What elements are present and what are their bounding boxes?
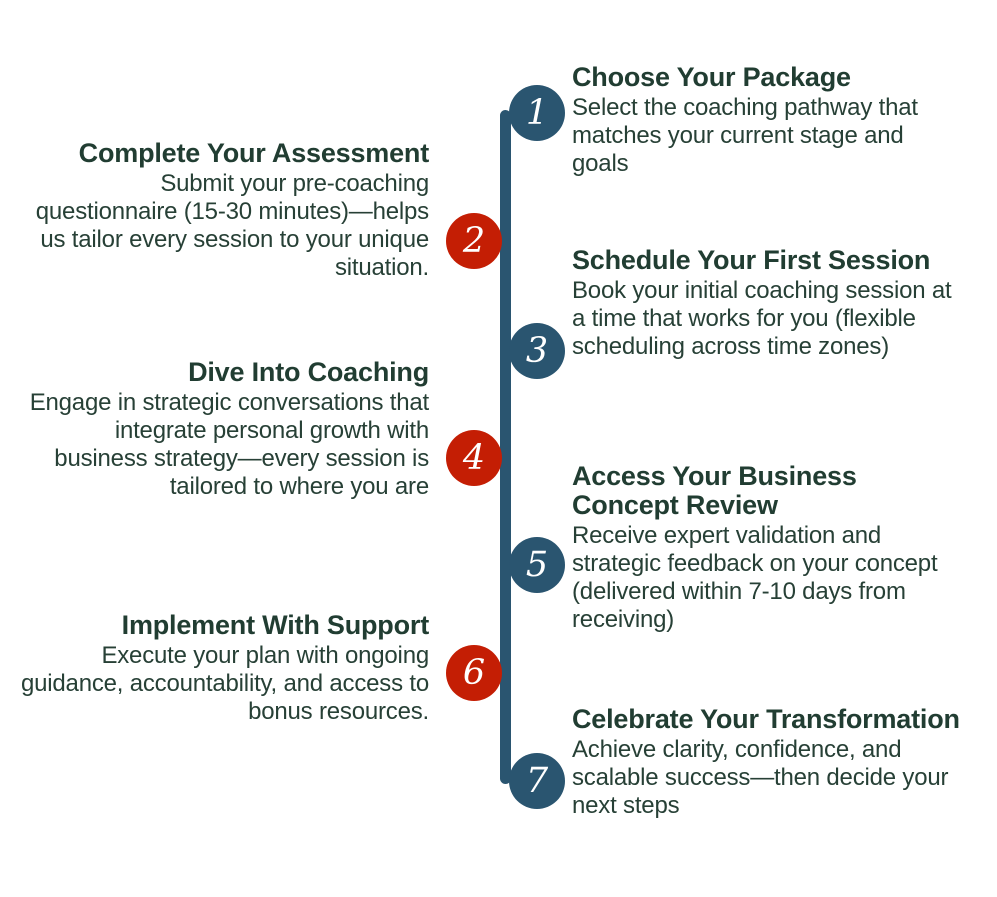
- step-title-6: Implement With Support: [20, 611, 429, 640]
- step-marker-6[interactable]: 6: [446, 645, 502, 701]
- step-number-4: 4: [463, 441, 485, 476]
- step-number-1: 1: [526, 96, 548, 131]
- step-marker-2[interactable]: 2: [446, 213, 502, 269]
- step-title-5: Access Your Business Concept Review: [572, 462, 964, 520]
- step-number-2: 2: [463, 224, 485, 259]
- step-title-2: Complete Your Assessment: [20, 139, 429, 168]
- step-number-7: 7: [526, 764, 548, 799]
- step-content-4: Dive Into Coaching Engage in strategic c…: [20, 358, 429, 500]
- step-body-6: Execute your plan with ongoing guidance,…: [20, 642, 429, 725]
- timeline-infographic: 1 Choose Your Package Select the coachin…: [0, 0, 997, 897]
- step-marker-7[interactable]: 7: [509, 753, 565, 809]
- step-title-1: Choose Your Package: [572, 63, 964, 92]
- step-content-1: Choose Your Package Select the coaching …: [572, 63, 964, 178]
- step-number-6: 6: [463, 656, 485, 691]
- step-marker-5[interactable]: 5: [509, 537, 565, 593]
- step-body-7: Achieve clarity, confidence, and scalabl…: [572, 736, 964, 819]
- step-body-2: Submit your pre-coaching questionnaire (…: [20, 170, 429, 281]
- step-body-1: Select the coaching pathway that matches…: [572, 94, 964, 177]
- step-title-4: Dive Into Coaching: [20, 358, 429, 387]
- step-marker-4[interactable]: 4: [446, 430, 502, 486]
- step-content-7: Celebrate Your Transformation Achieve cl…: [572, 705, 964, 820]
- step-body-3: Book your initial coaching session at a …: [572, 277, 964, 360]
- step-content-5: Access Your Business Concept Review Rece…: [572, 462, 964, 634]
- step-title-7: Celebrate Your Transformation: [572, 705, 964, 734]
- step-marker-1[interactable]: 1: [509, 85, 565, 141]
- step-content-3: Schedule Your First Session Book your in…: [572, 246, 964, 361]
- step-content-2: Complete Your Assessment Submit your pre…: [20, 139, 429, 281]
- timeline-spine: [500, 110, 511, 784]
- step-number-3: 3: [526, 334, 548, 369]
- step-number-5: 5: [526, 548, 548, 583]
- step-title-3: Schedule Your First Session: [572, 246, 964, 275]
- step-marker-3[interactable]: 3: [509, 323, 565, 379]
- step-content-6: Implement With Support Execute your plan…: [20, 611, 429, 726]
- step-body-5: Receive expert validation and strategic …: [572, 522, 964, 633]
- step-body-4: Engage in strategic conversations that i…: [20, 389, 429, 500]
